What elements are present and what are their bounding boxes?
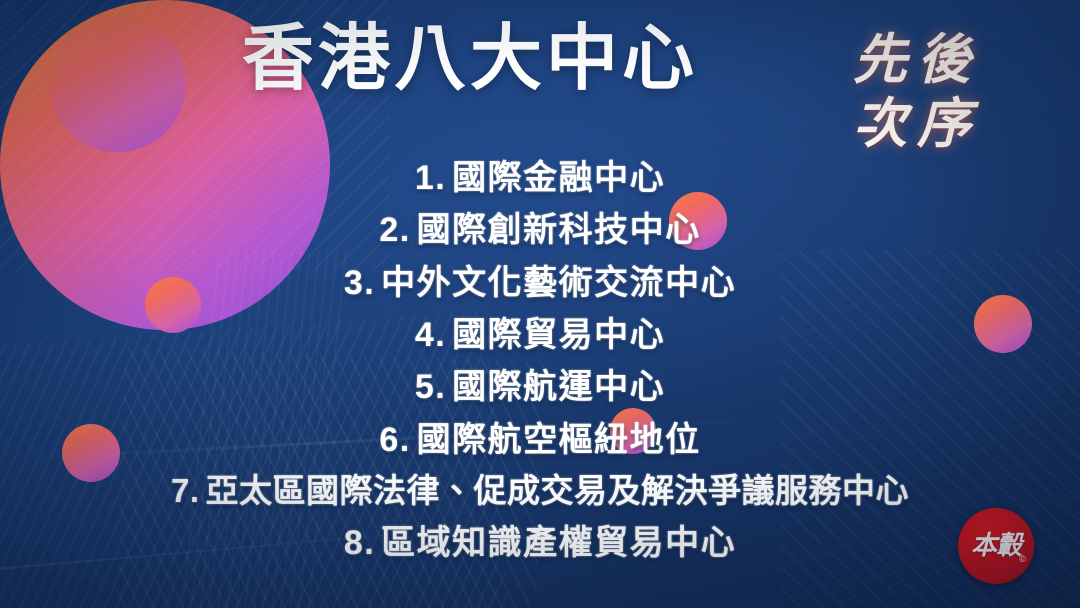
- poster-canvas: 先後 次序 香港八大中心 1.國際金融中心 2.國際創新科技中心 3.中外文化藝…: [0, 0, 1080, 608]
- list-item-label: 國際金融中心: [452, 159, 665, 197]
- centres-list: 1.國際金融中心 2.國際創新科技中心 3.中外文化藝術交流中心 4.國際貿易中…: [0, 152, 1080, 569]
- list-item: 8.區域知識產權貿易中心: [0, 517, 1080, 569]
- list-item-label: 國際航空樞紐地位: [417, 421, 701, 459]
- list-item-label: 區域知識產權貿易中心: [381, 524, 736, 562]
- list-item: 3.中外文化藝術交流中心: [0, 257, 1080, 309]
- brand-seal-logo[interactable]: 本轂 ©: [958, 508, 1034, 584]
- list-item-label: 國際貿易中心: [452, 316, 665, 354]
- list-item: 7.亞太區國際法律、促成交易及解決爭議服務中心: [0, 466, 1080, 517]
- list-item-label: 亞太區國際法律、促成交易及解決爭議服務中心: [206, 472, 910, 509]
- list-item-number: 7.: [171, 472, 200, 509]
- list-item-label: 國際航運中心: [452, 368, 665, 406]
- brush-label-line-2: 次序: [812, 92, 1022, 156]
- list-item-number: 6.: [379, 421, 410, 459]
- copyright-mark: ©: [1019, 554, 1026, 564]
- list-item-label: 國際創新科技中心: [417, 211, 701, 249]
- list-item-number: 3.: [344, 264, 375, 302]
- list-item-label: 中外文化藝術交流中心: [381, 264, 736, 302]
- list-item-number: 8.: [344, 524, 375, 562]
- list-item-number: 2.: [379, 211, 410, 249]
- list-item: 2.國際創新科技中心: [0, 204, 1080, 256]
- list-item: 6.國際航空樞紐地位: [0, 414, 1080, 466]
- list-item: 5.國際航運中心: [0, 361, 1080, 413]
- list-item-number: 5.: [415, 368, 446, 406]
- list-item: 4.國際貿易中心: [0, 309, 1080, 361]
- list-item-number: 4.: [415, 316, 446, 354]
- list-item: 1.國際金融中心: [0, 152, 1080, 204]
- brand-seal-text: 本轂: [971, 533, 1021, 559]
- list-item-number: 1.: [415, 159, 446, 197]
- page-title: 香港八大中心: [0, 22, 1080, 98]
